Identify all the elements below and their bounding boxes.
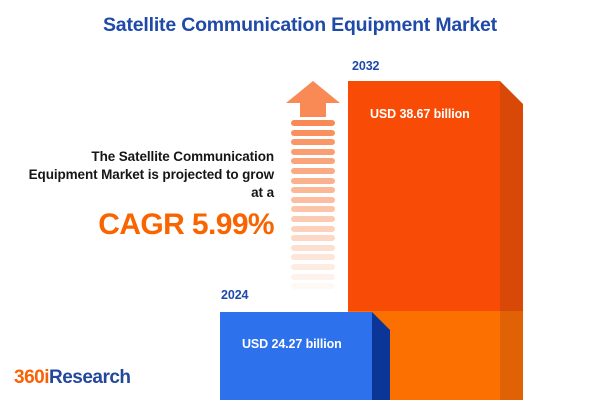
- bar-2024-front-face: [220, 312, 372, 400]
- bar-2024-value-label: USD 24.27 billion: [242, 337, 342, 351]
- arrow-shaft-stripe: [291, 235, 335, 241]
- arrow-shaft-stripe: [291, 158, 335, 164]
- brand-logo-word: Research: [49, 367, 131, 388]
- bar-2024-category-label: 2024: [221, 288, 248, 302]
- arrow-shaft-stripe: [291, 274, 335, 280]
- arrow-shaft-stripe: [291, 130, 335, 136]
- arrow-shaft-stripe: [291, 226, 335, 232]
- arrow-shaft-stripe: [291, 264, 335, 270]
- cagr-value: CAGR 5.99%: [24, 208, 274, 242]
- arrow-shaft-stripe: [291, 254, 335, 260]
- arrow-shaft-stripe: [291, 120, 335, 126]
- bar-2024-side-face: [372, 312, 390, 400]
- brand-logo: 360iResearch: [14, 367, 131, 389]
- growth-statement-text: The Satellite Communication Equipment Ma…: [24, 148, 274, 202]
- arrow-shaft-stripe: [291, 197, 335, 203]
- arrow-shaft-stripe: [291, 206, 335, 212]
- page-title: Satellite Communication Equipment Market: [0, 14, 600, 37]
- infographic-canvas: Satellite Communication Equipment Market…: [0, 0, 600, 400]
- bar-2024: USD 24.27 billion: [220, 312, 390, 400]
- arrow-shaft-stripe: [291, 168, 335, 174]
- arrow-shaft-stripe: [291, 216, 335, 222]
- arrow-shaft-stripe: [291, 293, 335, 299]
- arrow-shaft-stripe: [291, 283, 335, 289]
- bar-2032-value-label: USD 38.67 billion: [370, 107, 470, 121]
- bar-2032-overlap-side: [500, 311, 523, 400]
- bar-2032-category-label: 2032: [352, 59, 379, 73]
- brand-logo-mark: 360i: [14, 367, 49, 388]
- upward-growth-arrow-icon: [285, 80, 341, 296]
- statement-block: The Satellite Communication Equipment Ma…: [24, 148, 274, 242]
- arrow-shaft-stripe: [291, 245, 335, 251]
- arrow-shaft-stripe: [291, 187, 335, 193]
- arrow-shaft-stripe: [291, 149, 335, 155]
- arrow-head-icon: [285, 80, 341, 118]
- arrow-shaft-stripe: [291, 178, 335, 184]
- arrow-shaft-stripe: [291, 139, 335, 145]
